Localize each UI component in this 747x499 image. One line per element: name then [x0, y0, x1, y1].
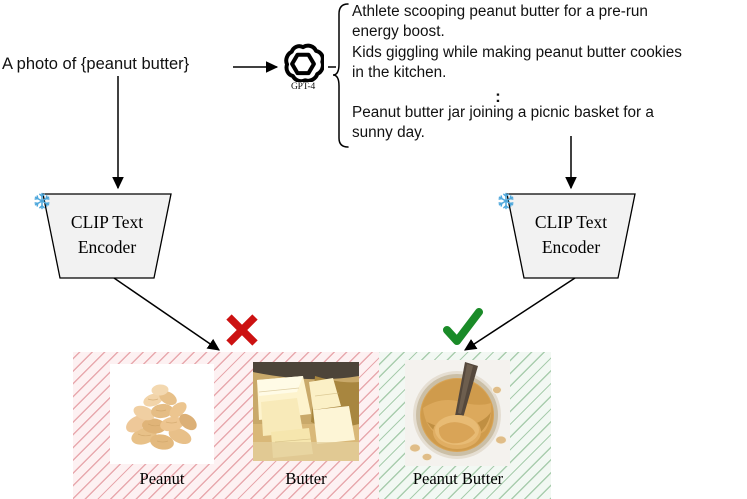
result-image-peanut[interactable] — [110, 364, 214, 464]
result-label-peanut: Peanut — [83, 469, 241, 489]
caption-line: Kids giggling while making peanut butter… — [352, 43, 744, 63]
encoder-label-left: CLIP Text Encoder — [33, 210, 181, 260]
encoder-label-line1: CLIP Text — [33, 210, 181, 235]
diagram-canvas: A photo of {peanut butter} GPT-4 Athlete… — [0, 0, 747, 499]
encoder-label-line2: Encoder — [497, 235, 645, 260]
clip-text-encoder-left[interactable]: CLIP Text Encoder — [33, 192, 181, 280]
cross-mark-icon — [225, 313, 259, 347]
encoder-label-line2: Encoder — [33, 235, 181, 260]
butter-blocks-photo — [253, 362, 359, 461]
caption-line: in the kitchen. — [352, 63, 744, 83]
clip-text-encoder-right[interactable]: CLIP Text Encoder — [497, 192, 645, 280]
arrow-left-encoder-to-results — [114, 278, 219, 350]
result-image-peanut-butter[interactable] — [405, 360, 510, 466]
caption-spacer — [352, 83, 744, 91]
caption-line: sunny day. — [352, 123, 744, 143]
snowflake-icon — [33, 192, 51, 210]
generated-captions-block: Athlete scooping peanut butter for a pre… — [352, 2, 744, 144]
caption-line: energy boost. — [352, 22, 744, 42]
check-mark-icon — [443, 308, 483, 348]
encoder-label-right: CLIP Text Encoder — [497, 210, 645, 260]
prompt-text: A photo of {peanut butter} — [2, 54, 189, 74]
result-label-butter: Butter — [233, 469, 379, 489]
captions-brace — [333, 4, 348, 147]
caption-line: Peanut butter jar joining a picnic baske… — [352, 103, 744, 123]
snowflake-icon — [497, 192, 515, 210]
gpt4-node: GPT-4 — [282, 40, 328, 96]
retrieval-results: Peanut Butter Peanut Butter — [73, 352, 551, 499]
result-label-peanut-butter: Peanut Butter — [391, 469, 525, 489]
peanut-butter-jar-spoon-photo — [405, 360, 510, 466]
caption-line: Athlete scooping peanut butter for a pre… — [352, 2, 744, 22]
encoder-label-line1: CLIP Text — [497, 210, 645, 235]
caption-ellipsis: : — [302, 91, 694, 103]
openai-logo-icon — [282, 40, 324, 82]
pile-of-peanuts-photo — [110, 364, 214, 464]
result-image-butter[interactable] — [253, 362, 359, 461]
